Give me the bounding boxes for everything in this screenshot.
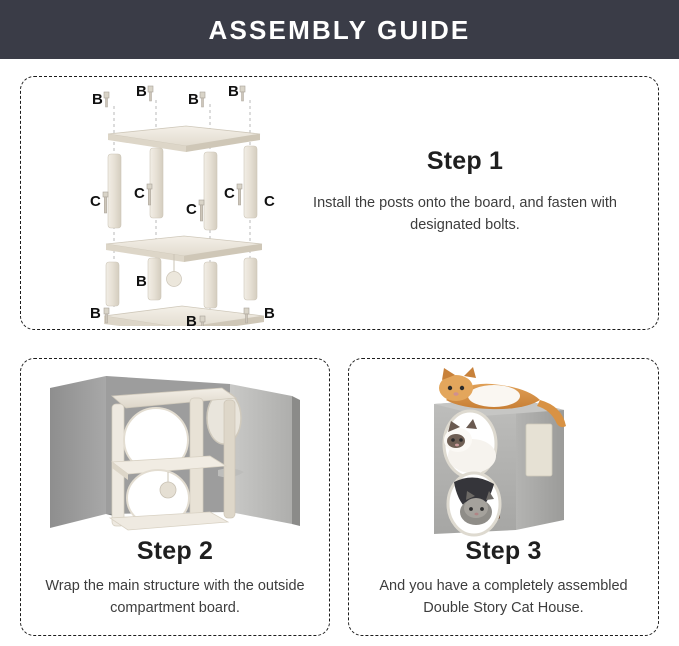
short-bolt-icon: [148, 86, 153, 101]
bolt-label-c: C: [134, 185, 145, 202]
bolt-label-b: B: [90, 305, 101, 322]
step-2-illustration: [40, 366, 312, 536]
top-shelf: [108, 126, 260, 152]
short-bolt-icon: [240, 86, 245, 101]
step-1-illustration: B B B B C C C C C B B B B: [78, 82, 288, 326]
step-2-body: Wrap the main structure with the outside…: [30, 575, 320, 619]
bolt-label-b: B: [264, 305, 275, 322]
step-3-heading: Step 3: [358, 538, 649, 566]
bolt-label-b: B: [136, 273, 147, 290]
bolt-label-b: B: [228, 83, 239, 100]
bolt-label-c: C: [186, 201, 197, 218]
bolt-label-c: C: [90, 193, 101, 210]
long-bolt-icon: [237, 184, 242, 205]
lower-posts: [106, 258, 257, 308]
bolt-label-b: B: [188, 91, 199, 108]
bolt-label-c: C: [224, 185, 235, 202]
page-title: ASSEMBLY GUIDE: [209, 17, 471, 43]
bolt-label-b-group-top: B B B B: [92, 83, 245, 108]
step-3-body: And you have a completely assembled Doub…: [358, 575, 649, 619]
bolt-label-b: B: [136, 83, 147, 100]
middle-shelf: [106, 236, 262, 262]
short-bolt-icon: [200, 92, 205, 107]
step-3-text-block: Step 3 And you have a completely assembl…: [358, 538, 649, 619]
long-bolt-icon: [103, 192, 108, 213]
step-1-text-block: Step 1 Install the posts onto the board,…: [300, 148, 630, 236]
long-bolt-icon: [199, 200, 204, 221]
short-bolt-icon: [104, 92, 109, 107]
bolt-label-b: B: [92, 91, 103, 108]
step-1-body: Install the posts onto the board, and fa…: [300, 192, 630, 236]
bolt-label-c: C: [264, 193, 275, 210]
left-wrap-panel: [50, 376, 114, 528]
bottom-board: [104, 306, 264, 326]
bolt-label-b: B: [186, 313, 197, 326]
step-1-heading: Step 1: [300, 148, 630, 176]
upper-compartment-opening: [444, 411, 496, 477]
step-3-illustration: [398, 362, 630, 538]
step-2-heading: Step 2: [30, 538, 320, 566]
lower-compartment-opening: [448, 473, 500, 535]
step-2-text-block: Step 2 Wrap the main structure with the …: [30, 538, 320, 619]
header-bar: ASSEMBLY GUIDE: [0, 0, 679, 59]
